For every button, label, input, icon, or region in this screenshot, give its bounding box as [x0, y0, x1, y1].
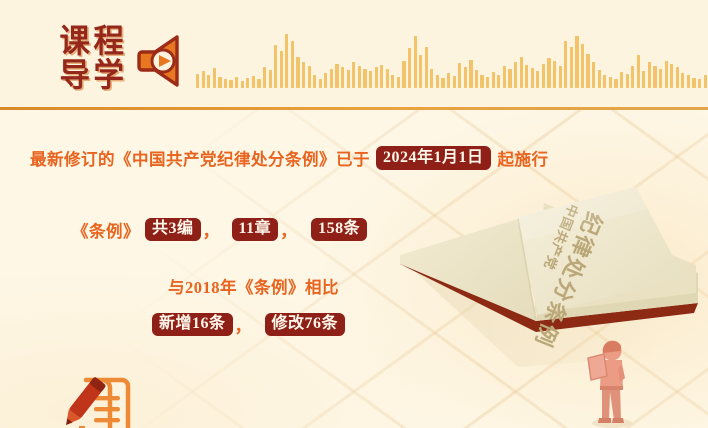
waveform-bar: [553, 61, 556, 88]
waveform-bar: [397, 77, 400, 88]
waveform-bar: [436, 75, 439, 88]
waveform-bar: [229, 80, 232, 88]
waveform-bar: [319, 79, 322, 88]
waveform-bar: [520, 57, 523, 88]
waveform-bar: [676, 67, 679, 88]
effective-date-badge: 2024年1月1日: [376, 146, 491, 170]
waveform-bar: [547, 58, 550, 88]
waveform-bar: [414, 36, 417, 88]
waveform-bar: [375, 67, 378, 88]
waveform-bar: [369, 71, 372, 88]
waveform-bar: [235, 77, 238, 88]
waveform-bar: [458, 63, 461, 88]
waveform-bar: [653, 66, 656, 88]
waveform-bar: [609, 77, 612, 88]
line1-prefix-text: 最新修订的《中国共产党纪律处分条例》已于: [30, 146, 370, 170]
line2-prefix-text: 《条例》: [72, 218, 140, 242]
waveform-bar: [542, 64, 545, 88]
waveform-bar: [425, 47, 428, 88]
waveform-bar: [241, 81, 244, 88]
statement-line-3: 与2018年《条例》相比: [168, 274, 339, 298]
waveform-bar: [525, 65, 528, 88]
header-bar: 课 程 导 学: [0, 0, 708, 109]
waveform-bar: [514, 62, 517, 88]
waveform-bar: [648, 62, 651, 88]
waveform-bar: [213, 68, 216, 88]
waveform-bar: [559, 66, 562, 88]
statement-line-2: 《条例》 共3编 ， 11章 ， 158条: [72, 217, 367, 242]
added-articles-badge: 新增16条: [152, 313, 233, 337]
waveform-bar: [508, 69, 511, 88]
waveform-bar: [480, 75, 483, 88]
brand-char-1: 课: [57, 25, 91, 61]
statement-line-4: 新增16条 ， 修改76条: [152, 312, 345, 337]
articles-badge: 158条: [311, 218, 367, 242]
waveform-bar: [330, 69, 333, 88]
waveform-bar: [531, 68, 534, 88]
waveform-bar: [313, 75, 316, 88]
volumes-badge: 共3编: [145, 218, 201, 242]
waveform-bar: [592, 62, 595, 88]
waveform-bar: [447, 73, 450, 88]
waveform-bar: [492, 72, 495, 88]
waveform-bar: [402, 61, 405, 88]
waveform-bar: [296, 57, 299, 88]
waveform-bar: [626, 74, 629, 88]
waveform-bar: [335, 64, 338, 88]
waveform-bar: [598, 70, 601, 88]
waveform-bar: [665, 61, 668, 88]
scroll-pen-icon: [42, 374, 138, 428]
waveform-bar: [692, 78, 695, 88]
waveform-bar: [408, 48, 411, 88]
waveform-bar: [575, 36, 578, 88]
brand-logo: 课 程 导 学: [58, 27, 124, 93]
waveform-bar: [687, 75, 690, 88]
waveform-bar: [302, 62, 305, 88]
waveform-bar: [603, 75, 606, 88]
line2-separator-1: ，: [201, 217, 224, 242]
waveform-bar: [670, 64, 673, 88]
waveform-bar: [386, 69, 389, 88]
waveform-bar: [620, 72, 623, 88]
waveform-bar: [503, 66, 506, 88]
waveform-bar: [453, 76, 456, 88]
megaphone-icon: [134, 33, 188, 92]
line4-separator: ，: [233, 312, 256, 337]
waveform-bar: [347, 70, 350, 88]
waveform-bar: [341, 67, 344, 88]
waveform-bar: [614, 79, 617, 88]
waveform-bar: [581, 44, 584, 88]
brand-char-4: 学: [91, 59, 125, 95]
waveform-bar: [464, 67, 467, 88]
waveform-bar: [202, 71, 205, 88]
waveform-bar: [586, 54, 589, 88]
waveform-bar: [280, 51, 283, 88]
open-book-illustration: 中国共产党 纪律处分条例: [398, 185, 708, 375]
waveform-bar: [430, 69, 433, 88]
waveform-bar: [358, 66, 361, 88]
waveform-bar: [698, 79, 701, 88]
chapters-badge: 11章: [232, 218, 279, 242]
waveform-bar: [486, 77, 489, 88]
waveform-bar: [570, 47, 573, 88]
audio-waveform: [196, 26, 708, 88]
line1-suffix-text: 起施行: [498, 146, 549, 170]
waveform-bar: [352, 62, 355, 88]
waveform-bar: [363, 69, 366, 88]
waveform-bar: [704, 75, 707, 88]
line2-separator-2: ，: [278, 217, 301, 242]
waveform-bar: [252, 76, 255, 88]
waveform-bar: [419, 55, 422, 88]
waveform-bar: [391, 75, 394, 88]
waveform-bar: [207, 75, 210, 88]
waveform-bar: [285, 34, 288, 88]
waveform-bar: [659, 69, 662, 88]
waveform-bar: [475, 70, 478, 88]
waveform-bar: [263, 67, 266, 88]
waveform-bar: [637, 55, 640, 88]
waveform-bar: [257, 79, 260, 88]
waveform-bar: [269, 70, 272, 88]
waveform-bar: [380, 65, 383, 88]
waveform-bar: [681, 73, 684, 88]
statement-line-1: 最新修订的《中国共产党纪律处分条例》已于 2024年1月1日 起施行: [30, 146, 549, 170]
waveform-bar: [196, 74, 199, 88]
waveform-bar: [564, 41, 567, 88]
waveform-bar: [631, 66, 634, 88]
waveform-bar: [536, 71, 539, 88]
waveform-bar: [274, 45, 277, 88]
revised-articles-badge: 修改76条: [265, 313, 346, 337]
waveform-bar: [308, 66, 311, 88]
waveform-bar: [218, 77, 221, 88]
waveform-bar: [224, 79, 227, 88]
waveform-bar: [246, 78, 249, 88]
waveform-bar: [441, 78, 444, 88]
waveform-bar: [324, 73, 327, 88]
waveform-bar: [497, 75, 500, 88]
person-reading-figure: [578, 336, 640, 428]
brand-char-3: 导: [57, 59, 91, 95]
waveform-bar: [291, 41, 294, 88]
brand-char-2: 程: [91, 25, 125, 61]
line3-text: 与2018年《条例》相比: [168, 274, 339, 298]
waveform-bar: [469, 60, 472, 88]
waveform-bar: [642, 71, 645, 88]
